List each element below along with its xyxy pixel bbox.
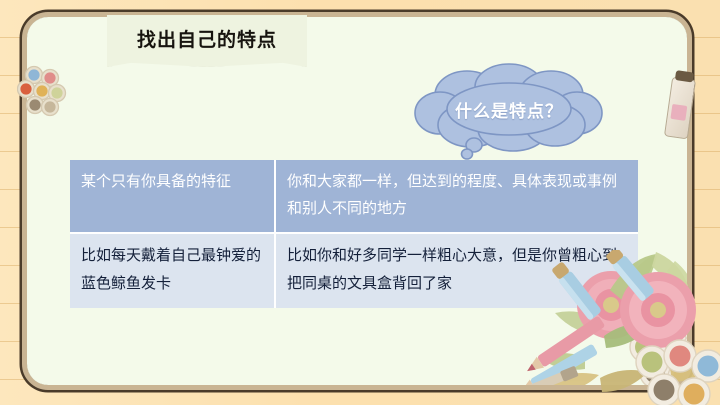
table-header-row: 某个只有你具备的特征 你和大家都一样，但达到的程度、具体表现或事例和别人不同的地… <box>70 160 638 234</box>
page-title: 找出自己的特点 <box>137 25 277 58</box>
tube-cap-icon <box>675 70 694 82</box>
palette-shape-icon <box>17 65 71 117</box>
table-header-cell-2: 你和大家都一样，但达到的程度、具体表现或事例和别人不同的地方 <box>276 160 638 234</box>
table-header-cell-1: 某个只有你具备的特征 <box>70 160 276 234</box>
table-body-cell-1: 比如每天戴着自己最钟爱的蓝色鲸鱼发卡 <box>70 234 276 308</box>
content-card: 什么是特点？ 某个只有你具备的特征 你和大家都一样，但达到的程度、具体表现或事例… <box>22 12 692 390</box>
outer-bottom-right-decoration <box>600 250 720 405</box>
cloud-text: 什么是特点？ <box>409 97 609 122</box>
paint-palette-icon <box>17 65 71 117</box>
outer-watercolor-icon <box>600 250 720 405</box>
title-banner: 找出自己的特点 <box>107 15 307 67</box>
thought-cloud-bubble: 什么是特点？ <box>409 61 609 161</box>
content-card-inner: 什么是特点？ 某个只有你具备的特征 你和大家都一样，但达到的程度、具体表现或事例… <box>27 17 687 385</box>
tube-label-icon <box>670 104 687 121</box>
